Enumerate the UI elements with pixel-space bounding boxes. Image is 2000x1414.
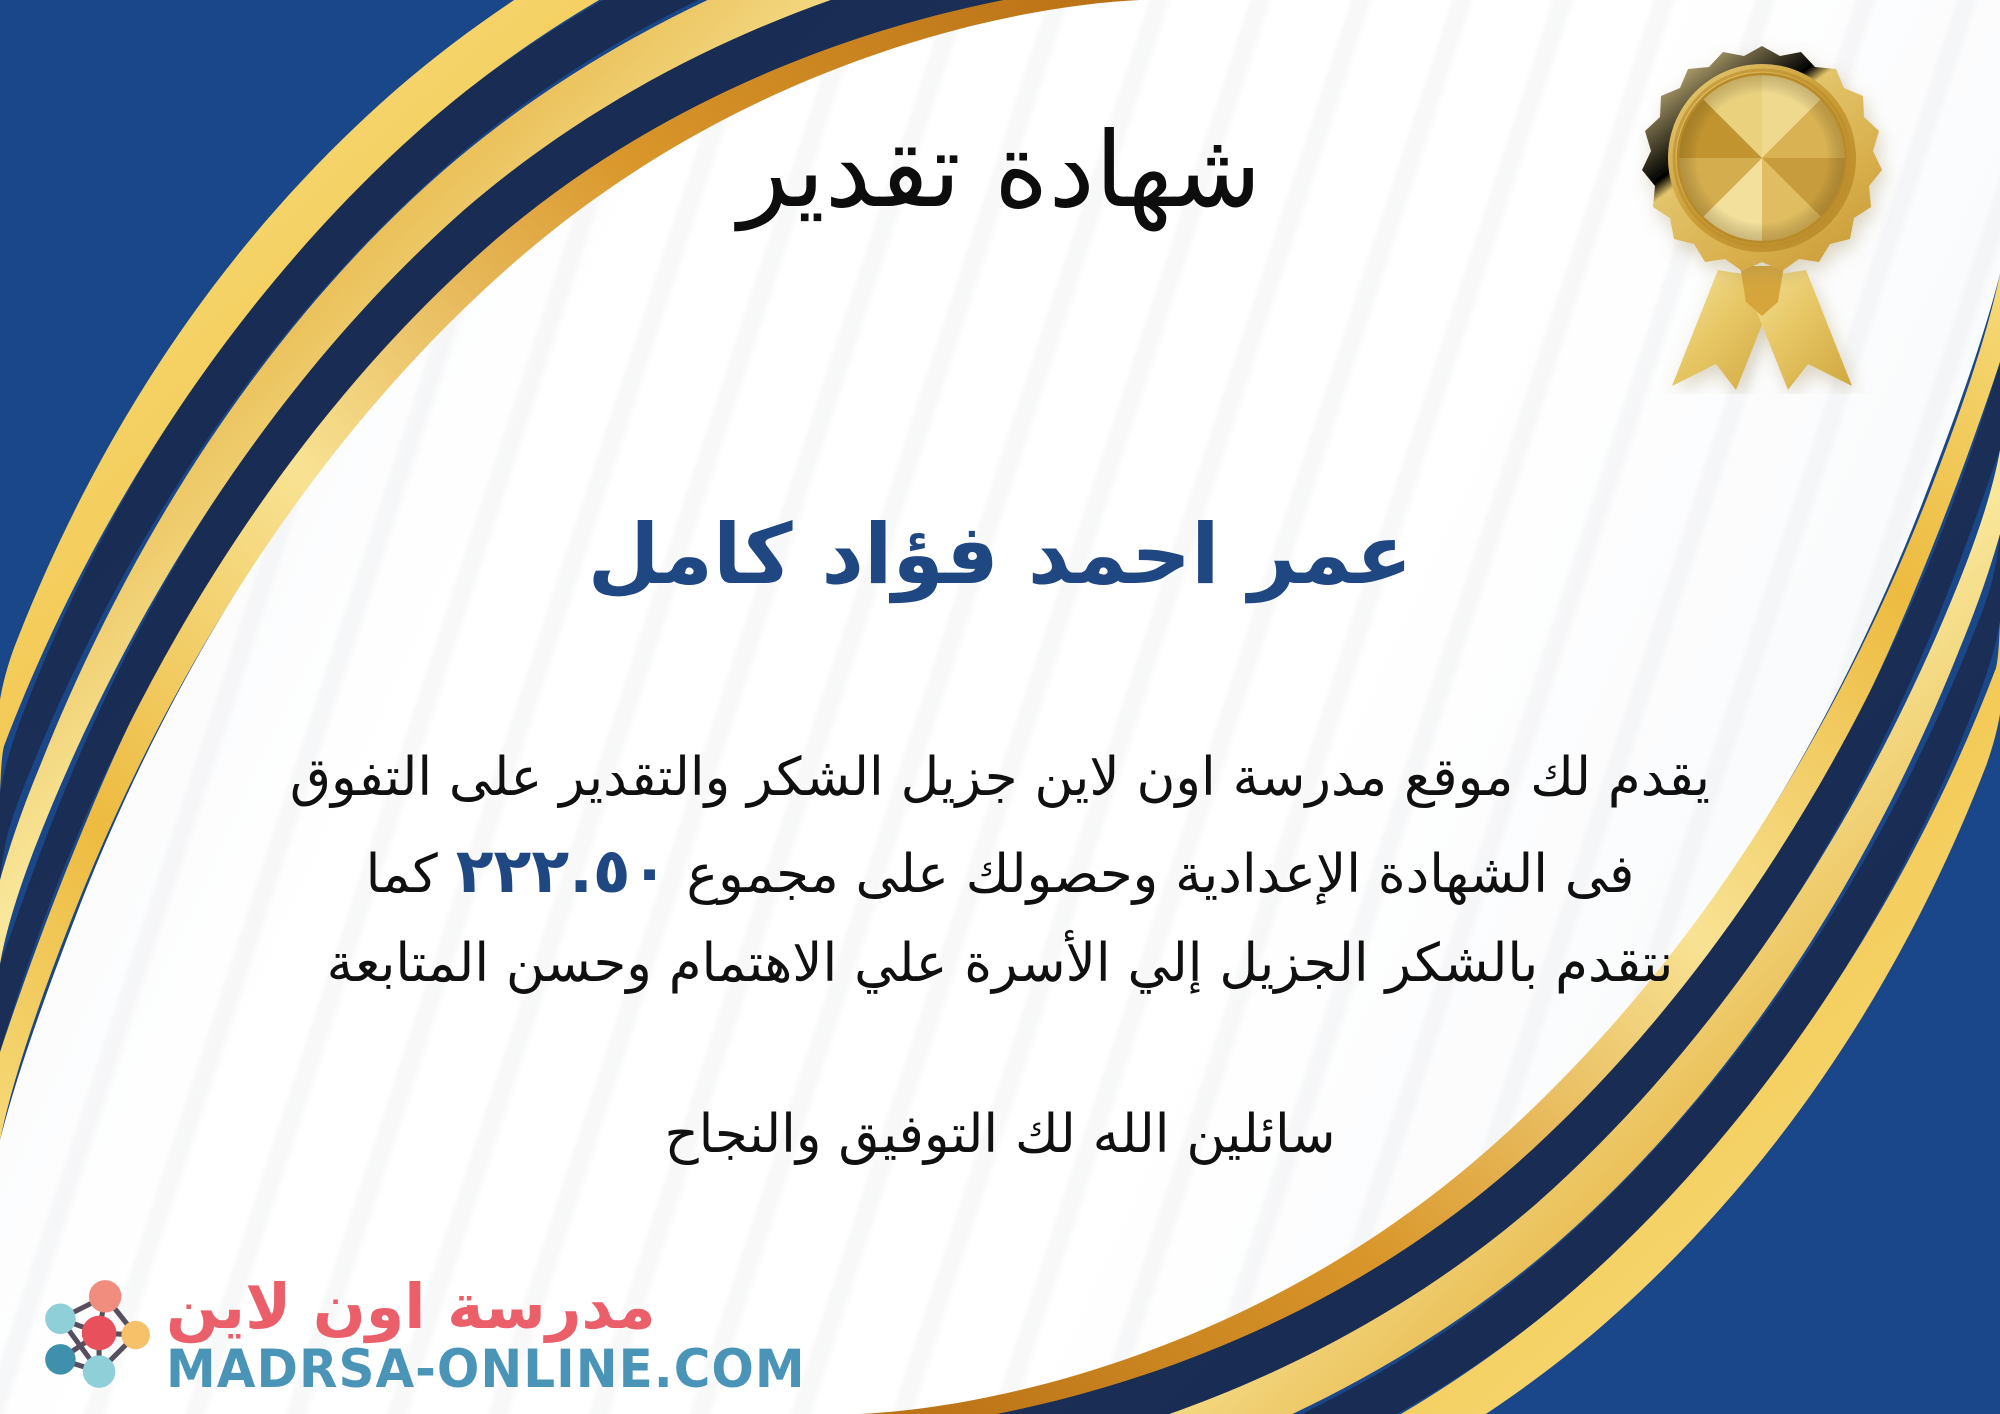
certificate-body: يقدم لك موقع مدرسة اون لاين جزيل الشكر و…: [70, 735, 1930, 1007]
body-line-3: نتقدم بالشكر الجزيل إلي الأسرة علي الاهت…: [70, 921, 1930, 1007]
brand-text: مدرسة اون لاين MADRSA-ONLINE.COM: [166, 1276, 806, 1394]
body-line-2-suffix: كما: [366, 844, 438, 905]
body-line-2-prefix: فى الشهادة الإعدادية وحصولك على مجموع: [686, 844, 1634, 905]
score-value: ٢٢٢.٥٠: [438, 834, 687, 907]
body-line-2: فى الشهادة الإعدادية وحصولك على مجموع٢٢٢…: [70, 821, 1930, 921]
network-nodes-icon: [34, 1274, 156, 1396]
body-line-1: يقدم لك موقع مدرسة اون لاين جزيل الشكر و…: [70, 735, 1930, 821]
certificate-content: شهادة تقدير عمر احمد فؤاد كامل يقدم لك م…: [0, 0, 2000, 1414]
recipient-name: عمر احمد فؤاد كامل: [0, 505, 2000, 605]
brand-domain: MADRSA-ONLINE.COM: [166, 1343, 806, 1396]
brand-arabic-name: مدرسة اون لاين: [166, 1276, 656, 1338]
brand-logo[interactable]: مدرسة اون لاين MADRSA-ONLINE.COM: [34, 1274, 806, 1396]
certificate-page: شهادة تقدير عمر احمد فؤاد كامل يقدم لك م…: [0, 0, 2000, 1414]
closing-line: سائلين الله لك التوفيق والنجاح: [0, 1095, 2000, 1175]
page-title: شهادة تقدير: [0, 112, 2000, 228]
